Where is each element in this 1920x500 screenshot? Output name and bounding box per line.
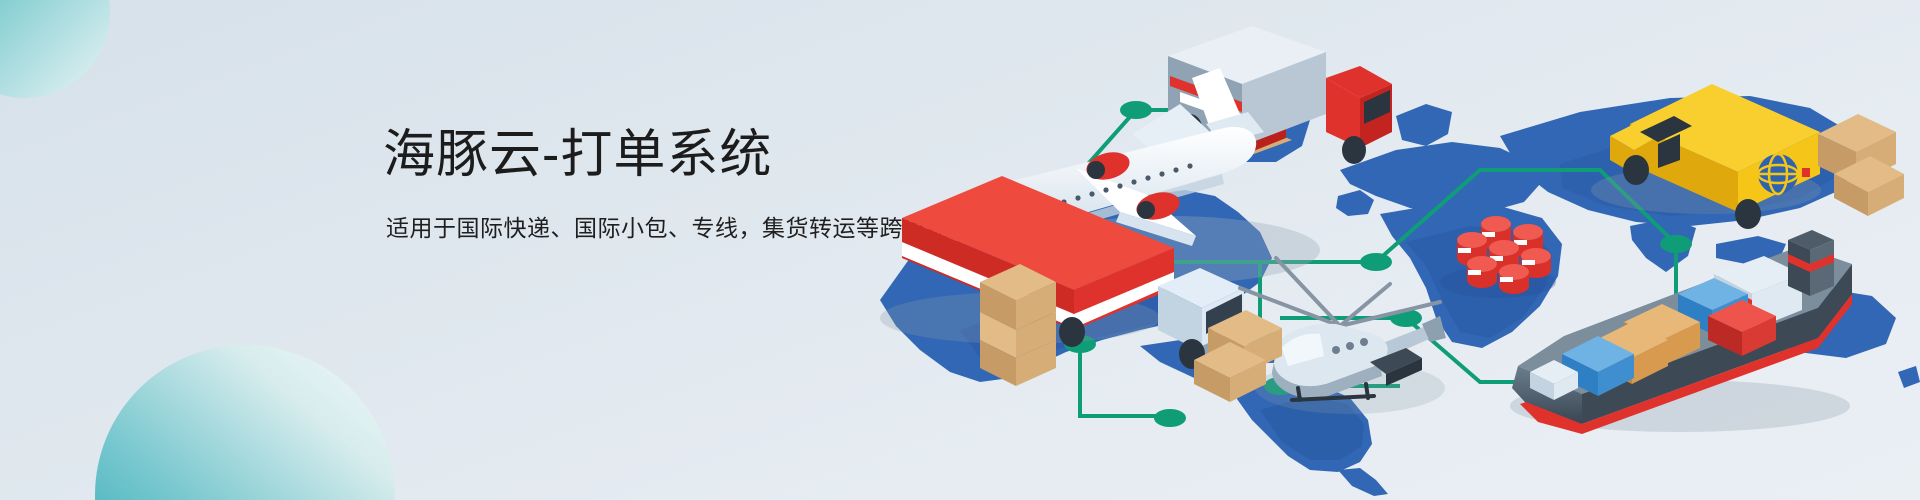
semi-truck-wheel-2: [1059, 317, 1085, 347]
hero-banner: 海豚云-打单系统 适用于国际快递、国际小包、专线，集货转运等跨境物流包裹处理: [0, 0, 1920, 500]
delivery-van-wheel-front: [1623, 155, 1649, 185]
continent-south-america-tail: [1338, 468, 1388, 496]
airplane-engine-rear-inner: [1087, 161, 1105, 179]
network-node: [1360, 253, 1392, 271]
illustration-container: [840, 0, 1920, 500]
isometric-world-logistics-map: [840, 0, 1920, 500]
barrel: [1499, 264, 1529, 294]
box-truck-wheel-front: [1342, 136, 1366, 164]
island-uk: [1336, 190, 1374, 216]
network-node: [1154, 409, 1186, 427]
cardboard-boxes: [980, 264, 1056, 386]
airplane-engine-front-inner: [1137, 201, 1155, 219]
teal-gradient-circle-bottom-left: [95, 345, 395, 500]
network-node: [1660, 235, 1692, 253]
delivery-van-wheel-rear: [1735, 199, 1761, 229]
island-scandinavia: [1396, 104, 1452, 146]
network-node: [1120, 101, 1152, 119]
teal-gradient-circle-top-left: [0, 0, 110, 98]
delivery-van-taillight: [1802, 168, 1810, 177]
island-new-zealand: [1898, 366, 1920, 388]
barrel: [1467, 256, 1497, 288]
